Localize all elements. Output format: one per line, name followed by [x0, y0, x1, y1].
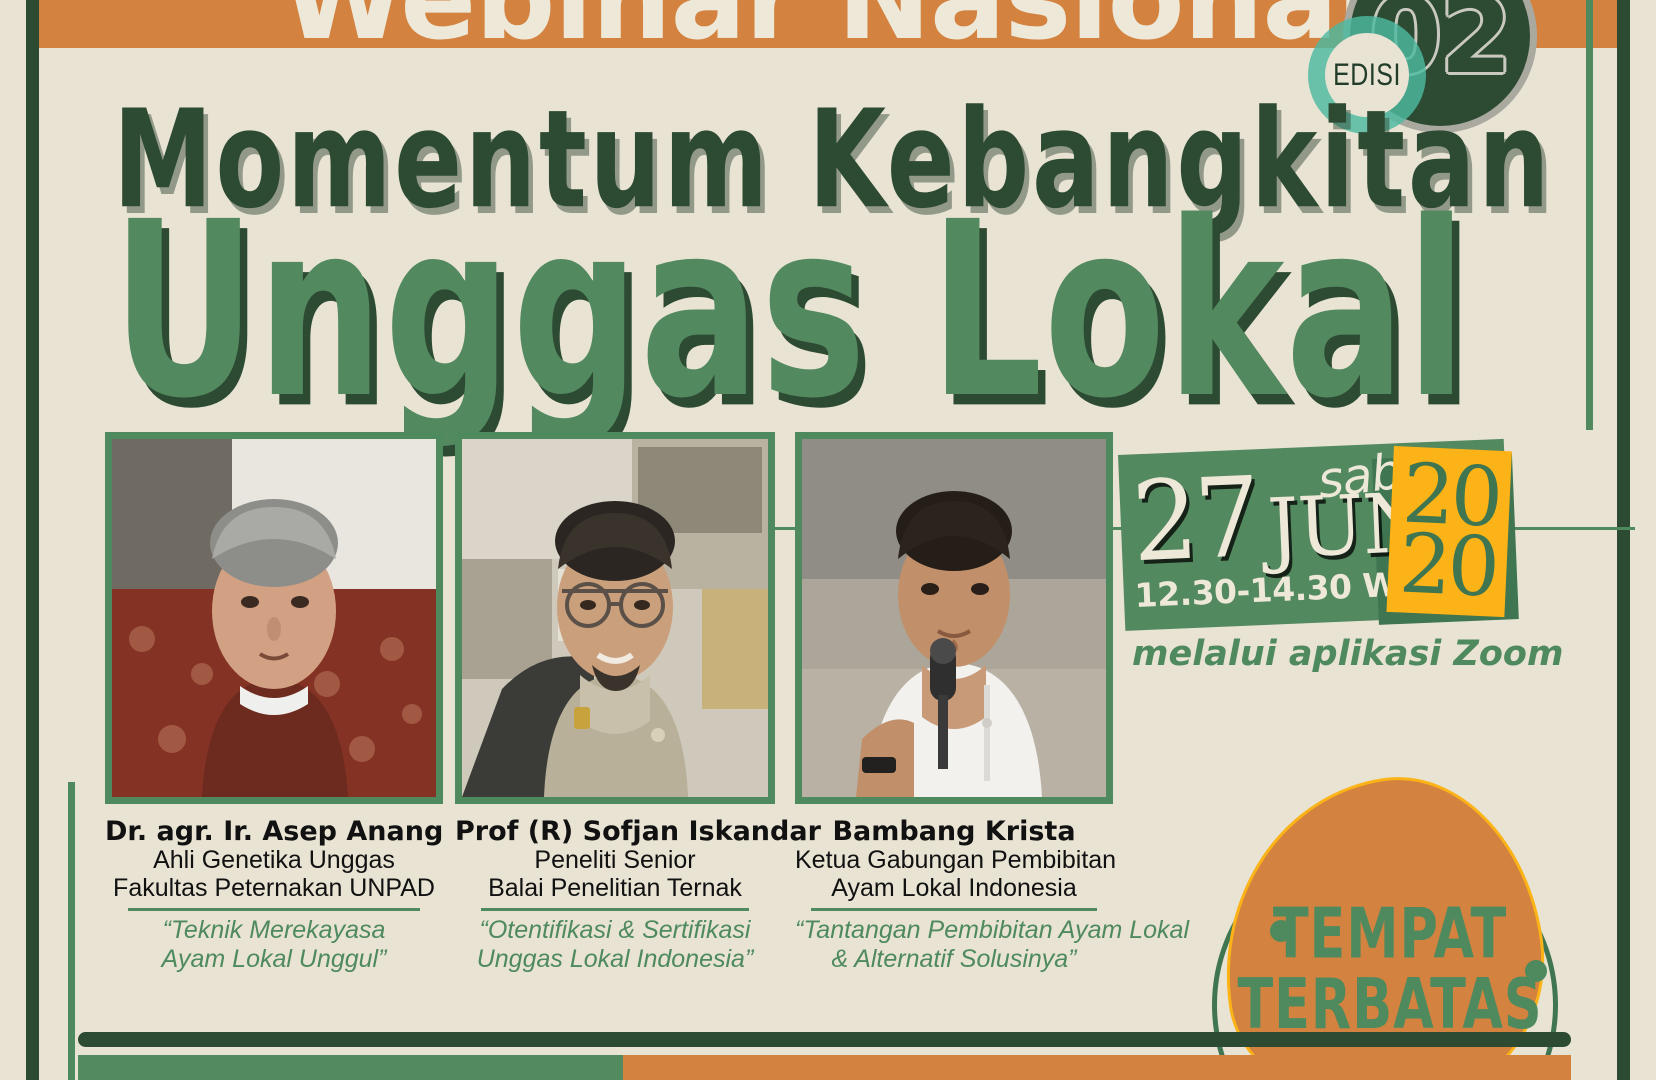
speaker-role-line-1: Peneliti Senior — [455, 846, 775, 874]
portrait-image — [112, 439, 436, 797]
speaker-talk-line-2: & Alternatif Solusinya” — [795, 945, 1113, 973]
right-border-rule — [1617, 0, 1630, 1080]
event-platform: melalui aplikasi Zoom — [1132, 637, 1563, 672]
bottom-bar-orange-segment — [623, 1055, 1571, 1080]
speaker-name: Bambang Krista — [795, 818, 1113, 846]
inner-left-accent-rule — [68, 782, 75, 1080]
portrait-image — [802, 439, 1106, 797]
speaker-talk-line-2: Ayam Lokal Unggul” — [105, 945, 443, 973]
speaker-role-line-2: Fakultas Peternakan UNPAD — [105, 874, 443, 902]
headline-line-2: Unggas Lokal — [112, 190, 1468, 432]
speaker-divider — [811, 908, 1097, 911]
event-date-block: 27 JUNI sabtu 12.30-14.30 WIB 20 20 mela… — [1118, 455, 1548, 670]
speaker-photo — [455, 432, 775, 804]
speaker-talk-line-1: “Otentifikasi & Sertifikasi — [455, 916, 775, 944]
inner-right-accent-rule — [1586, 0, 1593, 430]
speaker-role-line-1: Ahli Genetika Unggas — [105, 846, 443, 874]
speaker-role-line-1: Ketua Gabungan Pembibitan — [795, 846, 1113, 874]
bottom-color-bar — [78, 1055, 1571, 1080]
speaker-role-line-2: Ayam Lokal Indonesia — [795, 874, 1113, 902]
speaker-role-line-2: Balai Penelitian Ternak — [455, 874, 775, 902]
bottom-pill-rule — [78, 1032, 1571, 1047]
poster-canvas: Webinar Nasional 02 EDISI Momentum Keban… — [0, 0, 1656, 1080]
speaker-talk-line-1: “Teknik Merekayasa — [105, 916, 443, 944]
speaker-talk-line-2: Unggas Lokal Indonesia” — [455, 945, 775, 973]
notice-line-1: TEMPAT — [1202, 898, 1578, 969]
speaker-card: Dr. agr. Ir. Asep Anang Ahli Genetika Un… — [105, 432, 443, 973]
left-border-rule — [26, 0, 39, 1080]
event-year-badge: 20 20 — [1386, 446, 1511, 617]
speaker-divider — [481, 908, 749, 911]
speaker-talk-line-1: “Tantangan Pembibitan Ayam Lokal — [795, 916, 1113, 944]
event-year-bottom: 20 — [1398, 529, 1497, 603]
speaker-divider — [128, 908, 420, 911]
event-day-number: 27 — [1130, 462, 1259, 577]
speaker-photo — [105, 432, 443, 804]
speaker-name: Dr. agr. Ir. Asep Anang — [105, 818, 443, 846]
speaker-card: Bambang Krista Ketua Gabungan Pembibitan… — [795, 432, 1113, 973]
speaker-name: Prof (R) Sofjan Iskandar — [455, 818, 775, 846]
speaker-photo — [795, 432, 1113, 804]
portrait-image — [462, 439, 768, 797]
speaker-card: Prof (R) Sofjan Iskandar Peneliti Senior… — [455, 432, 775, 973]
notice-line-2: TERBATAS — [1202, 969, 1578, 1040]
bottom-bar-green-segment — [78, 1055, 623, 1080]
notice-text: TEMPAT TERBATAS — [1202, 898, 1578, 1040]
